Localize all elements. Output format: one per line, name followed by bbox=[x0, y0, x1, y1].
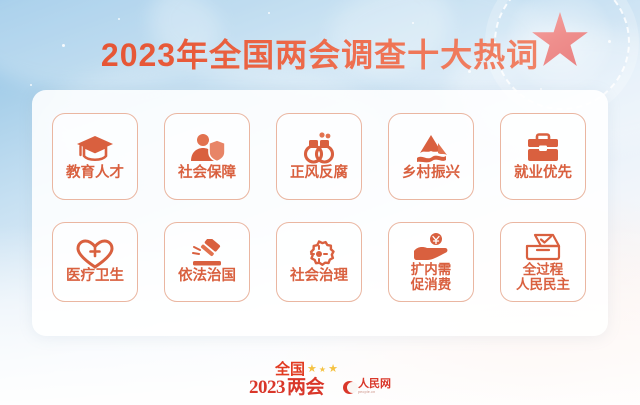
event-logo-top: 全国 ★ ★ ★ bbox=[275, 362, 338, 377]
keyword-tile-employment[interactable]: 就业优先 bbox=[500, 113, 586, 200]
keyword-label: 社会治理 bbox=[290, 269, 348, 285]
graduation-cap-icon bbox=[75, 131, 115, 165]
mountains-icon bbox=[411, 131, 451, 165]
mini-star-icon: ★ bbox=[328, 364, 338, 375]
crescent-icon bbox=[343, 381, 356, 394]
publisher-logo: 人民网 people.cn bbox=[343, 379, 391, 397]
keyword-tile-anticorruption[interactable]: 正风反腐 bbox=[276, 113, 362, 200]
publisher-text: 人民网 people.cn bbox=[358, 379, 391, 395]
footer-logo-area: 全国 ★ ★ ★ 2023 两会 人民网 people.cn bbox=[0, 362, 640, 397]
keyword-label: 教育人才 bbox=[66, 166, 124, 182]
speck-dot bbox=[118, 18, 120, 20]
publisher-name-cn: 人民网 bbox=[358, 379, 391, 390]
speck-dot bbox=[268, 12, 270, 14]
keyword-label-line1: 扩内需 bbox=[411, 262, 452, 277]
publisher-name-en: people.cn bbox=[358, 391, 391, 395]
mini-star-icon: ★ bbox=[307, 364, 317, 375]
speck-dot bbox=[412, 22, 414, 24]
keyword-tile-education[interactable]: 教育人才 bbox=[52, 113, 138, 200]
keyword-label: 正风反腐 bbox=[290, 166, 348, 182]
handcuffs-icon bbox=[299, 131, 339, 165]
keyword-label-line2: 促消费 bbox=[411, 277, 452, 292]
people-cn-logo-icon: 全国 ★ ★ ★ 2023 两会 人民网 people.cn bbox=[249, 362, 391, 397]
page-title: 2023年全国两会调查十大热词 bbox=[0, 30, 640, 76]
keyword-label: 依法治国 bbox=[178, 269, 236, 285]
keyword-tile-social-governance[interactable]: 社会治理 bbox=[276, 222, 362, 302]
keyword-tile-rural-revitalization[interactable]: 乡村振兴 bbox=[388, 113, 474, 200]
keywords-panel: 教育人才 社会保障 bbox=[32, 90, 608, 336]
keyword-tile-rule-of-law[interactable]: 依法治国 bbox=[164, 222, 250, 302]
keyword-label: 乡村振兴 bbox=[402, 166, 460, 182]
event-name-bottom: 两会 bbox=[287, 378, 324, 397]
briefcase-icon bbox=[523, 131, 563, 165]
keywords-grid: 教育人才 社会保障 bbox=[52, 113, 586, 302]
keyword-label: 就业优先 bbox=[514, 166, 572, 182]
ballot-box-icon bbox=[523, 232, 563, 262]
keyword-tile-social-security[interactable]: 社会保障 bbox=[164, 113, 250, 200]
event-logo-bottom: 2023 两会 bbox=[249, 378, 324, 397]
heart-plus-icon bbox=[75, 239, 115, 269]
keyword-label-line1: 全过程 bbox=[523, 262, 564, 277]
mini-star-icon: ★ bbox=[319, 366, 326, 374]
event-year: 2023 bbox=[249, 378, 285, 397]
keyword-tile-healthcare[interactable]: 医疗卫生 bbox=[52, 222, 138, 302]
hand-yuan-icon bbox=[411, 232, 451, 262]
keyword-label: 社会保障 bbox=[178, 166, 236, 182]
person-shield-icon bbox=[187, 131, 227, 165]
keyword-tile-domestic-demand[interactable]: 扩内需 促消费 bbox=[388, 222, 474, 302]
screenshot-stage: 2023年全国两会调查十大热词 教育人才 bbox=[0, 0, 640, 405]
keyword-tile-whole-process-democracy[interactable]: 全过程 人民民主 bbox=[500, 222, 586, 302]
keyword-label: 医疗卫生 bbox=[66, 269, 124, 285]
event-name-top: 全国 bbox=[275, 362, 305, 377]
event-logo: 全国 ★ ★ ★ 2023 两会 bbox=[249, 362, 338, 397]
speck-dot bbox=[30, 84, 32, 86]
gavel-icon bbox=[187, 239, 227, 269]
keyword-label-line2: 人民民主 bbox=[516, 277, 570, 292]
gear-icon bbox=[299, 239, 339, 269]
